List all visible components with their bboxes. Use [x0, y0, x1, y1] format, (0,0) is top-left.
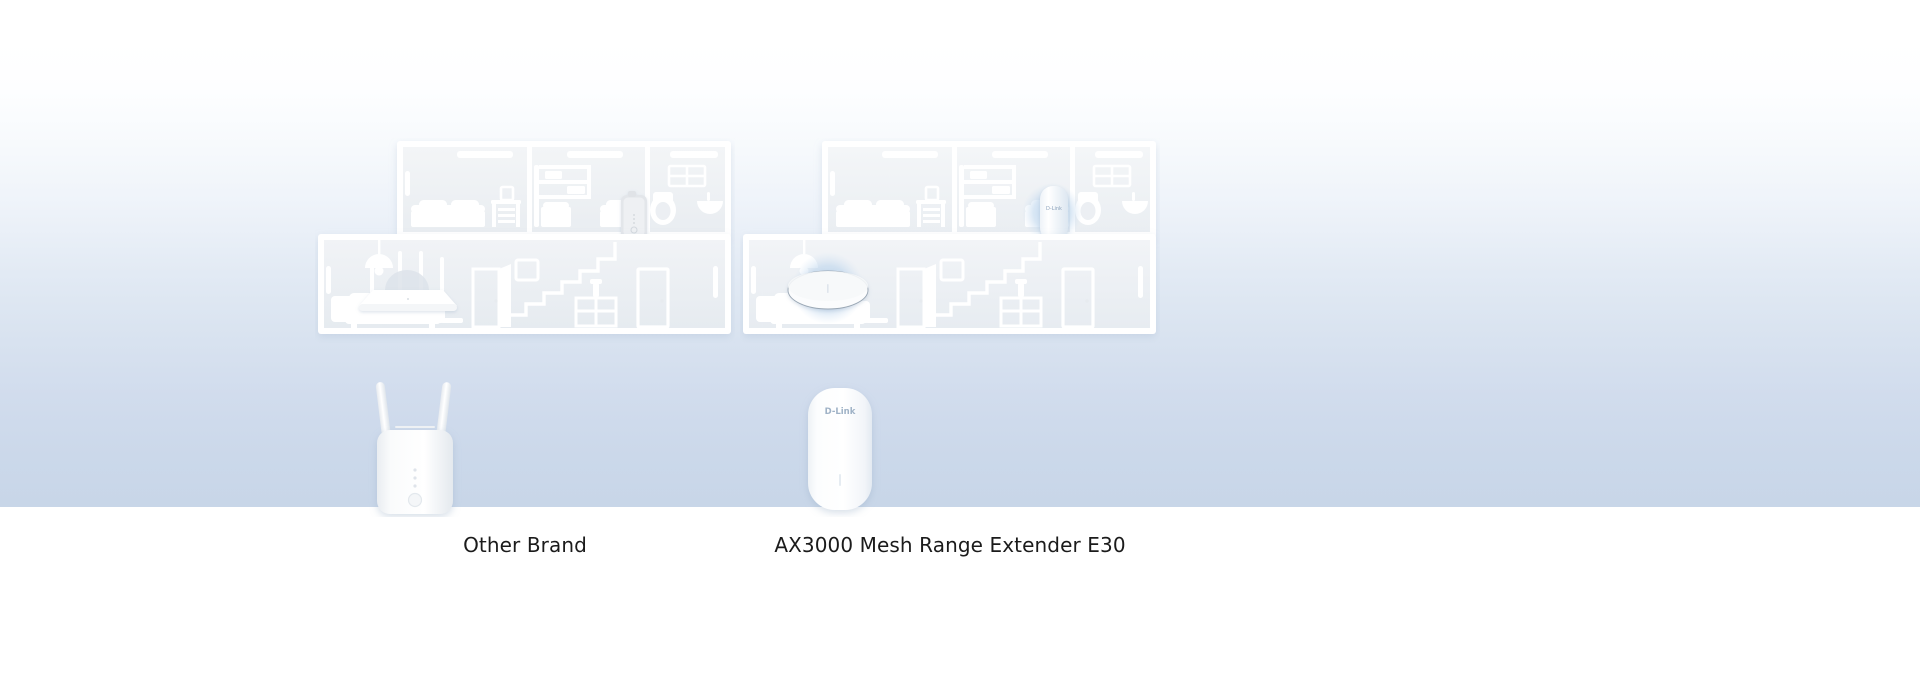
floorplan-other-brand: [315, 138, 735, 343]
comparison-stage: Other Brand: [0, 0, 1920, 700]
caption-other-brand: Other Brand: [315, 532, 735, 558]
comparison-item-ax3000-e30: D-Link: [740, 0, 1500, 700]
mesh-range-extender-device-icon: D-Link: [740, 382, 940, 517]
caption-ax3000-e30: AX3000 Mesh Range Extender E30: [740, 532, 1160, 558]
device-logo: D-Link: [825, 407, 856, 417]
hero-device-other-brand: [315, 382, 515, 517]
floorplan-illustration-icon: [315, 138, 735, 343]
range-extender-device-icon: [315, 382, 515, 517]
comparison-columns: Other Brand: [0, 0, 1920, 700]
extender-in-plan-icon: [1040, 186, 1068, 241]
floorplan-ax3000-e30: D-Link: [740, 138, 1160, 343]
led-indicator-icon: [839, 474, 841, 486]
hero-device-ax3000-e30: D-Link: [740, 382, 940, 517]
floorplan-illustration-icon: D-Link: [740, 138, 1160, 343]
extender-plan-logo: D-Link: [1046, 206, 1062, 212]
wps-button-icon: [409, 494, 422, 507]
